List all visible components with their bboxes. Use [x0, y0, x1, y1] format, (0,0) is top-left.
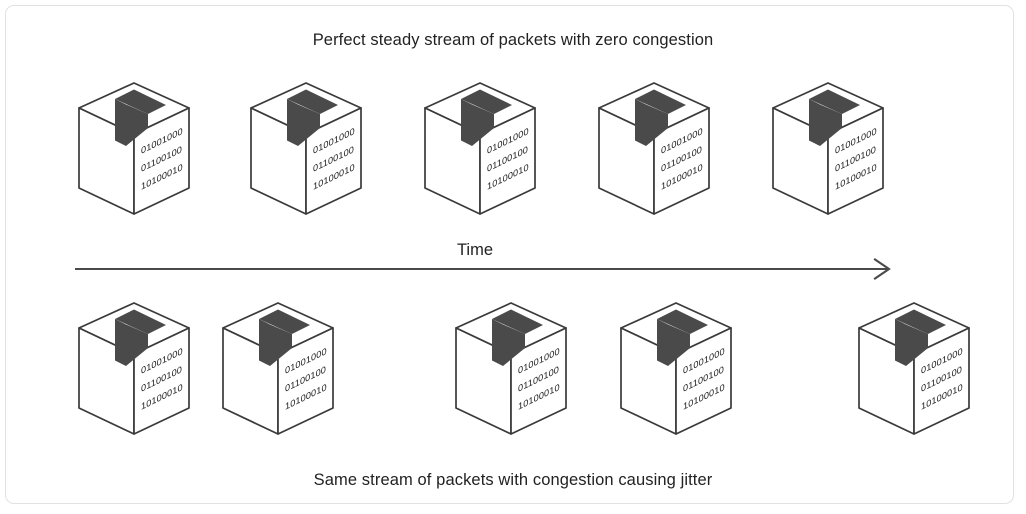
packet-jittered-stream-3: 010010000110010010100010 [455, 302, 567, 435]
packet-steady-stream-3: 010010000110010010100010 [424, 82, 536, 215]
packet-jittered-stream-2: 010010000110010010100010 [222, 302, 334, 435]
time-axis-arrow [75, 258, 895, 280]
caption-steady-stream: Perfect steady stream of packets with ze… [0, 31, 1026, 50]
packet-steady-stream-5: 010010000110010010100010 [772, 82, 884, 215]
packet-jittered-stream-1: 010010000110010010100010 [78, 302, 190, 435]
packet-jittered-stream-4: 010010000110010010100010 [620, 302, 732, 435]
packet-steady-stream-2: 010010000110010010100010 [250, 82, 362, 215]
packet-jittered-stream-5: 010010000110010010100010 [858, 302, 970, 435]
packet-steady-stream-4: 010010000110010010100010 [598, 82, 710, 215]
diagram-canvas: Perfect steady stream of packets with ze… [0, 0, 1026, 514]
packet-steady-stream-1: 010010000110010010100010 [78, 82, 190, 215]
caption-jittered-stream: Same stream of packets with congestion c… [0, 471, 1026, 490]
